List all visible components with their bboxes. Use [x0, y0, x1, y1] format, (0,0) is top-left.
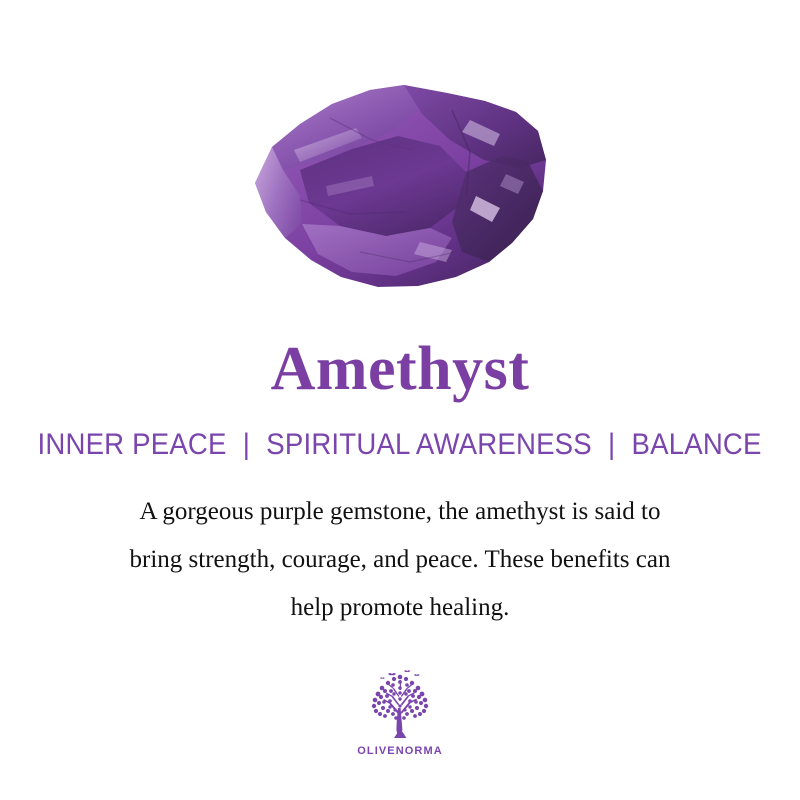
brand-wordmark: OLIVENORMA	[357, 745, 443, 757]
keyword-list: INNER PEACE | SPIRITUAL AWARENESS | BALA…	[38, 430, 762, 460]
keyword-spiritual-awareness: SPIRITUAL AWARENESS	[267, 428, 593, 461]
gemstone-image	[0, 0, 800, 320]
brand-logo: OLIVENORMA	[340, 666, 460, 757]
description-line: help promote healing.	[50, 584, 750, 632]
keyword-separator-2: |	[600, 428, 624, 461]
page-title: Amethyst	[271, 338, 530, 400]
keyword-inner-peace: INNER PEACE	[38, 428, 227, 461]
description-line: A gorgeous purple gemstone, the amethyst…	[50, 488, 750, 536]
amethyst-crystal-illustration	[0, 0, 800, 320]
description-line: bring strength, courage, and peace. Thes…	[50, 536, 750, 584]
keyword-separator-1: |	[235, 428, 259, 461]
tree-of-life-icon	[358, 666, 442, 742]
keyword-balance: BALANCE	[632, 428, 762, 461]
description-text: A gorgeous purple gemstone, the amethyst…	[50, 488, 750, 632]
product-info-card: Amethyst INNER PEACE | SPIRITUAL AWARENE…	[0, 0, 800, 800]
